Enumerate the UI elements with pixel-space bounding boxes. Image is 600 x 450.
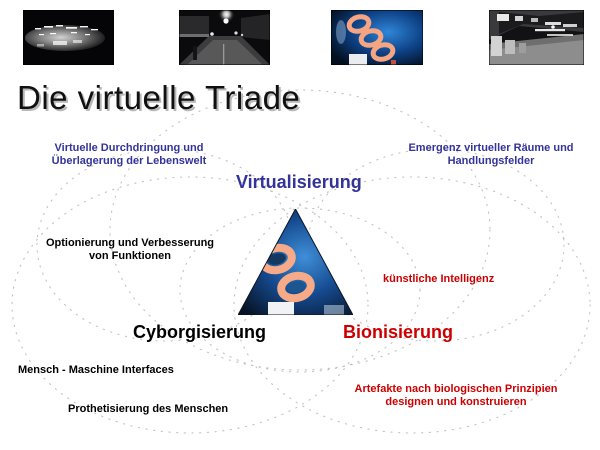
sublabel-line-1: Virtuelle Durchdringung und	[24, 142, 234, 155]
slide-canvas: Die virtuelle Triade	[0, 0, 600, 450]
sublabel-line-2: Überlagerung der Lebenswelt	[24, 155, 234, 168]
sublabel-artefakte-biologische-prinzipien: Artefakte nach biologischen Prinzipien d…	[336, 383, 576, 409]
sublabel-line-2: Handlungsfelder	[388, 155, 594, 168]
photo-night-station-platform	[489, 10, 584, 65]
sublabel-line-1: Artefakte nach biologischen Prinzipien	[336, 383, 576, 396]
node-label-virtualisierung: Virtualisierung	[236, 172, 362, 193]
sublabel-line-2: designen und konstruieren	[336, 396, 576, 409]
sublabel-kuenstliche-intelligenz: künstliche Intelligenz	[383, 273, 494, 286]
node-label-bionisierung: Bionisierung	[343, 322, 453, 343]
photo-night-street-lamp	[179, 10, 270, 65]
central-triangle-image	[238, 209, 353, 315]
sublabel-emergenz-virtueller-raeume: Emergenz virtueller Räume und Handlungsf…	[388, 142, 594, 168]
sublabel-line-1: Emergenz virtueller Räume und	[388, 142, 594, 155]
node-label-cyborgisierung: Cyborgisierung	[133, 322, 266, 343]
sublabel-line-2: von Funktionen	[27, 250, 233, 263]
photo-night-cityscape-lights	[23, 10, 114, 65]
sublabel-optionierung-verbesserung: Optionierung und Verbesserung von Funkti…	[27, 237, 233, 263]
sublabel-mensch-maschine-interfaces: Mensch - Maschine Interfaces	[18, 364, 174, 377]
page-title: Die virtuelle Triade	[17, 79, 300, 117]
sublabel-line-1: Optionierung und Verbesserung	[27, 237, 233, 250]
sublabel-prothetisierung-des-menschen: Prothetisierung des Menschen	[68, 403, 228, 416]
sublabel-virtuelle-durchdringung: Virtuelle Durchdringung und Überlagerung…	[24, 142, 234, 168]
photo-blue-orange-rings	[331, 10, 423, 65]
